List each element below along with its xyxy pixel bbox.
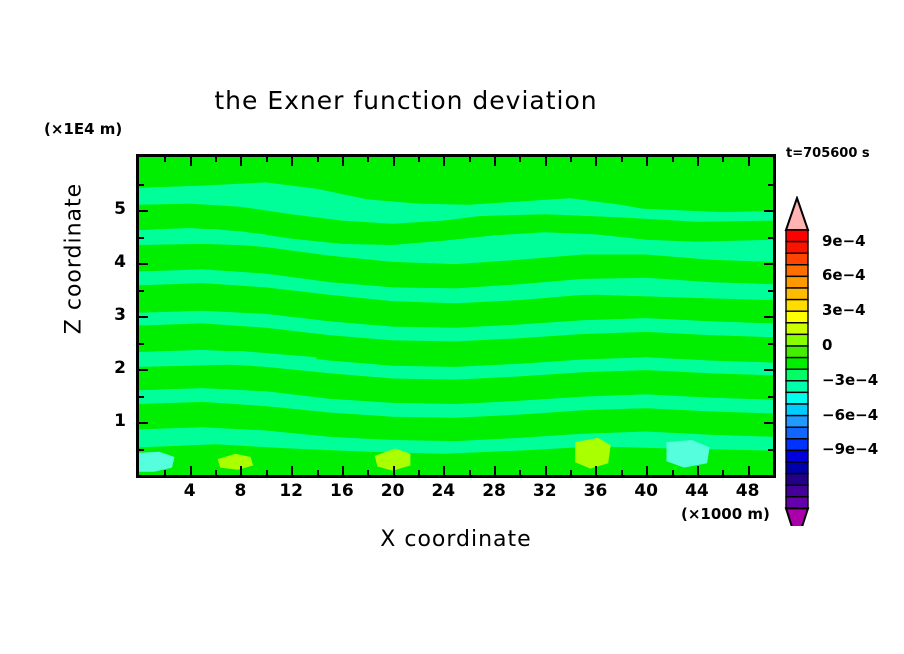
x-major-tick-top-9 [646,157,648,166]
x-major-tick-top-0 [190,157,192,166]
x-tick-label-4: 20 [373,481,413,501]
colorbar-tick-label-3: 0 [822,336,832,354]
x-major-tick-7 [545,466,547,475]
x-minor-tick [469,470,471,475]
x-major-tick-top-2 [291,157,293,166]
x-minor-tick-top [367,157,369,162]
x-tick-label-7: 32 [525,481,565,501]
x-major-tick-8 [595,466,597,475]
y-minor-tick [139,290,144,292]
x-tick-label-10: 44 [677,481,717,501]
x-minor-tick [722,470,724,475]
colorbar-band-8 [786,323,808,335]
x-tick-label-6: 28 [474,481,514,501]
x-minor-tick-top [215,157,217,162]
colorbar-band-11 [786,358,808,370]
colorbar-band-9 [786,334,808,346]
colorbar-band-21 [786,474,808,486]
y-major-tick-3 [139,263,148,265]
colorbar-band-13 [786,381,808,393]
colorbar-over-arrow [786,198,808,230]
x-major-tick-0 [190,466,192,475]
x-minor-tick-top [317,157,319,162]
x-tick-label-3: 16 [322,481,362,501]
x-minor-tick [570,470,572,475]
y-major-tick-right-4 [764,210,773,212]
x-axis-unit-label: (×1000 m) [681,505,770,523]
y-minor-tick-right [768,237,773,239]
y-tick-label-4: 5 [96,199,126,219]
colorbar-band-6 [786,300,808,312]
x-major-tick-9 [646,466,648,475]
colorbar-band-16 [786,416,808,428]
y-minor-tick-right [768,396,773,398]
x-tick-label-0: 4 [170,481,210,501]
x-minor-tick-top [266,157,268,162]
x-minor-tick [519,470,521,475]
x-tick-label-5: 24 [423,481,463,501]
x-major-tick-top-7 [545,157,547,166]
colorbar-band-14 [786,392,808,404]
y-minor-tick-right [768,184,773,186]
x-minor-tick [164,470,166,475]
x-minor-tick [672,470,674,475]
x-minor-tick-top [621,157,623,162]
x-major-tick-10 [697,466,699,475]
contour-plot-area [136,154,776,478]
y-tick-label-1: 2 [96,358,126,378]
x-tick-label-2: 12 [271,481,311,501]
x-minor-tick [266,470,268,475]
x-minor-tick-top [722,157,724,162]
x-minor-tick [215,470,217,475]
colorbar-band-15 [786,404,808,416]
y-major-tick-right-2 [764,316,773,318]
colorbar-band-5 [786,288,808,300]
x-minor-tick-top [418,157,420,162]
x-minor-tick [317,470,319,475]
x-axis-title: X coordinate [136,527,776,552]
colorbar-tick-label-0: 9e−4 [822,232,866,250]
y-major-tick-2 [139,316,148,318]
x-major-tick-top-8 [595,157,597,166]
colorbar-tick-label-2: 3e−4 [822,301,866,319]
colorbar-band-0 [786,230,808,242]
y-tick-label-3: 4 [96,252,126,272]
y-major-tick-4 [139,210,148,212]
x-major-tick-2 [291,466,293,475]
y-major-tick-right-1 [764,369,773,371]
y-axis-unit-label: (×1E4 m) [44,120,122,138]
y-minor-tick [139,343,144,345]
x-major-tick-top-4 [393,157,395,166]
y-minor-tick-right [768,343,773,345]
y-minor-tick [139,184,144,186]
x-minor-tick [621,470,623,475]
y-major-tick-right-0 [764,422,773,424]
colorbar-band-7 [786,311,808,323]
colorbar-tick-label-5: −6e−4 [822,406,878,424]
colorbar-band-3 [786,265,808,277]
x-major-tick-4 [393,466,395,475]
y-minor-tick [139,449,144,451]
colorbar-band-22 [786,485,808,497]
contour-field [139,157,773,475]
x-tick-label-11: 48 [728,481,768,501]
colorbar-band-1 [786,242,808,254]
page-title: the Exner function deviation [0,86,812,115]
x-major-tick-top-1 [240,157,242,166]
x-minor-tick [367,470,369,475]
colorbar-tick-label-6: −9e−4 [822,440,878,458]
x-major-tick-top-6 [494,157,496,166]
colorbar-band-12 [786,369,808,381]
x-minor-tick [418,470,420,475]
x-major-tick-3 [342,466,344,475]
y-tick-label-0: 1 [96,411,126,431]
x-minor-tick-top [164,157,166,162]
x-major-tick-5 [443,466,445,475]
timestamp-annotation: t=705600 s [786,146,870,161]
colorbar [781,196,815,526]
x-major-tick-6 [494,466,496,475]
colorbar-under-arrow [786,508,808,526]
colorbar-tick-label-1: 6e−4 [822,266,866,284]
y-minor-tick-right [768,449,773,451]
colorbar-band-17 [786,427,808,439]
colorbar-band-23 [786,497,808,509]
y-major-tick-1 [139,369,148,371]
colorbar-band-19 [786,450,808,462]
colorbar-band-10 [786,346,808,358]
colorbar-band-4 [786,276,808,288]
x-major-tick-top-5 [443,157,445,166]
y-major-tick-0 [139,422,148,424]
x-tick-label-9: 40 [626,481,666,501]
x-minor-tick-top [672,157,674,162]
x-minor-tick-top [570,157,572,162]
x-tick-label-8: 36 [575,481,615,501]
x-major-tick-top-3 [342,157,344,166]
x-major-tick-1 [240,466,242,475]
x-minor-tick-top [469,157,471,162]
x-major-tick-top-11 [748,157,750,166]
x-major-tick-11 [748,466,750,475]
contour-cell-high-2 [575,438,611,469]
colorbar-band-2 [786,253,808,265]
y-tick-label-2: 3 [96,305,126,325]
x-minor-tick-top [773,157,775,162]
x-tick-label-1: 8 [220,481,260,501]
y-major-tick-right-3 [764,263,773,265]
x-minor-tick-top [519,157,521,162]
y-minor-tick [139,396,144,398]
y-axis-title: Z coordinate [62,149,87,369]
x-major-tick-top-10 [697,157,699,166]
x-minor-tick [773,470,775,475]
y-minor-tick [139,237,144,239]
colorbar-band-18 [786,439,808,451]
y-minor-tick-right [768,290,773,292]
colorbar-band-20 [786,462,808,474]
colorbar-tick-label-4: −3e−4 [822,371,878,389]
